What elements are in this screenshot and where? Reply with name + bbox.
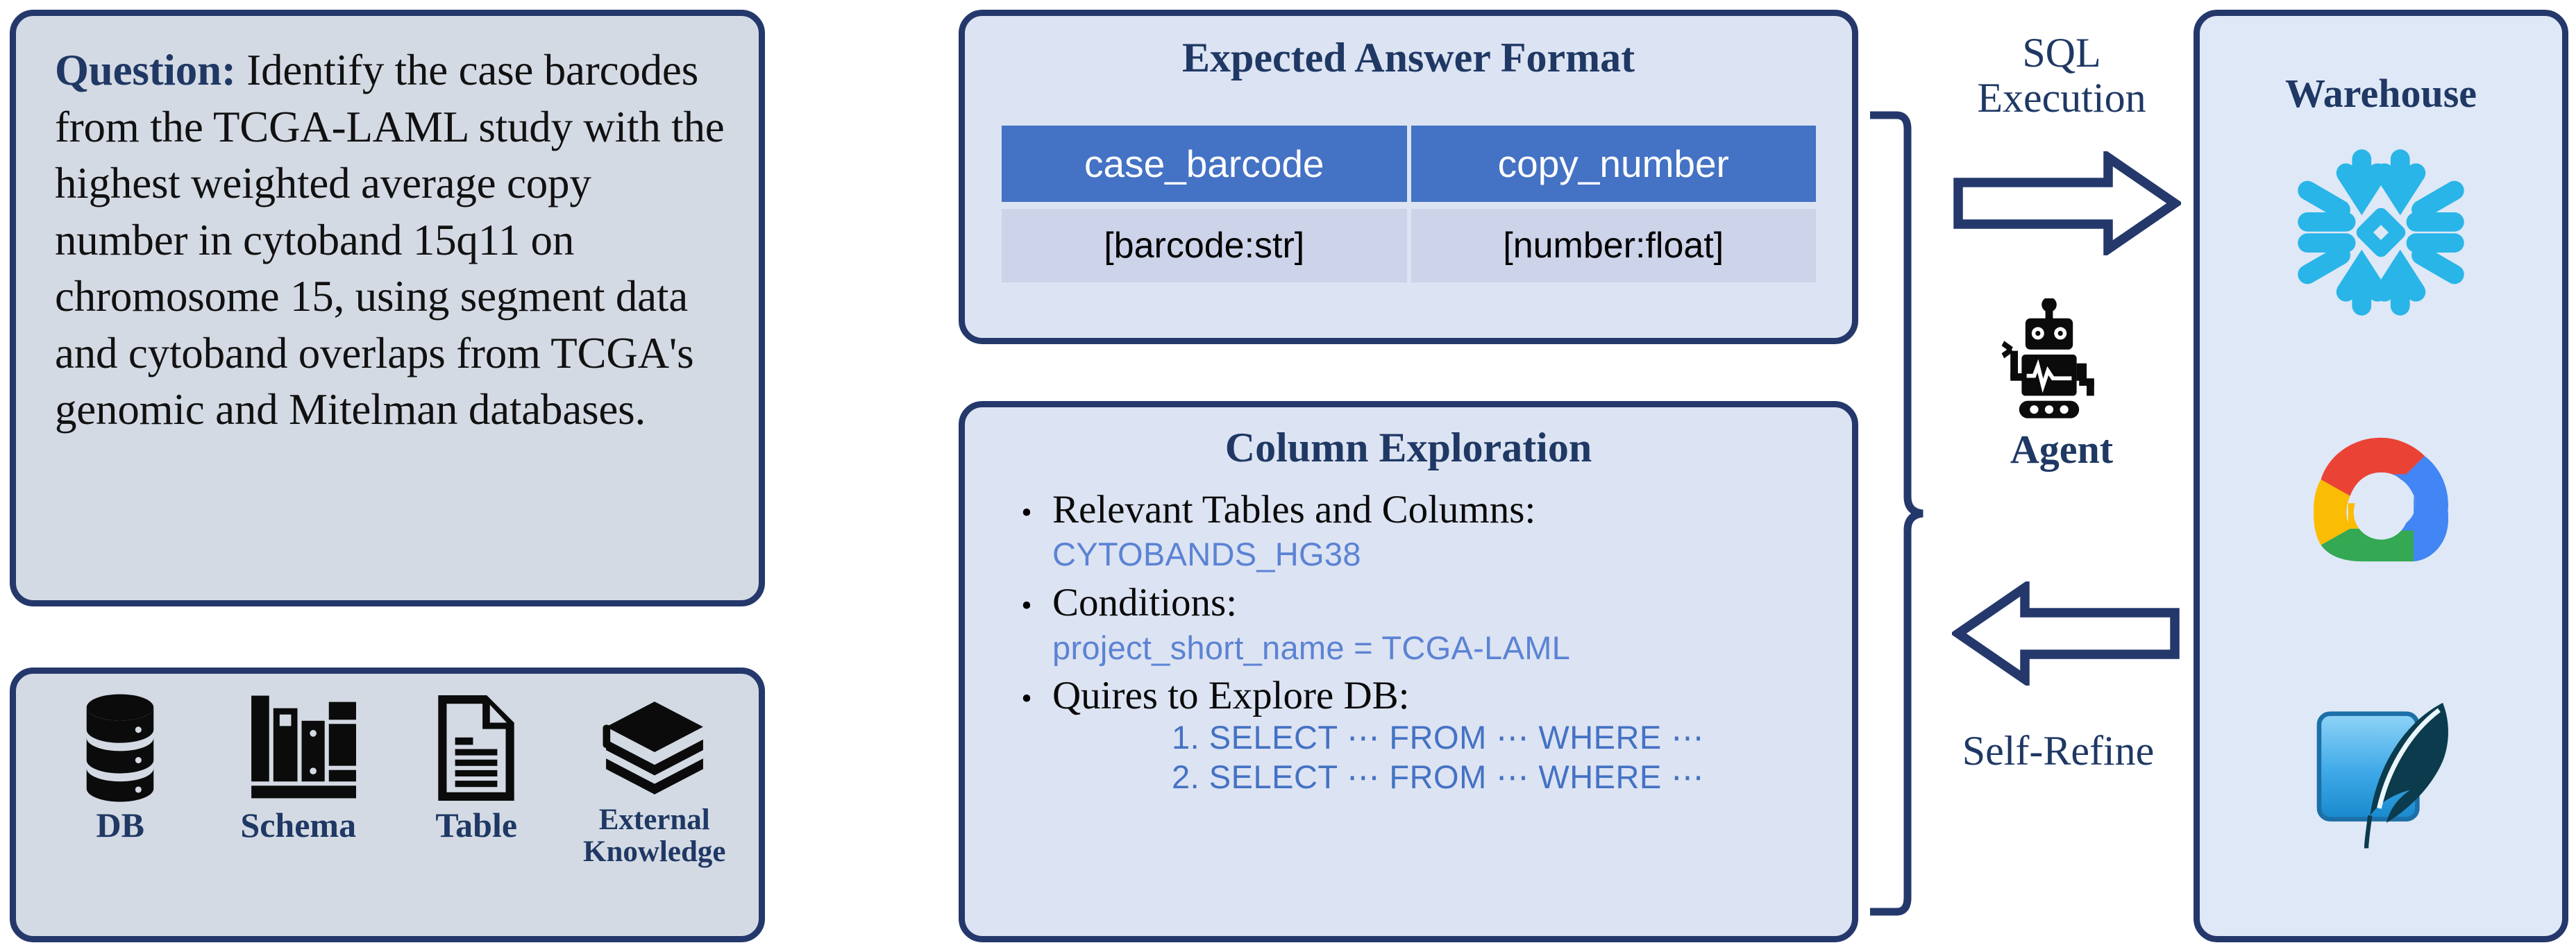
resource-label-db: DB [96, 807, 144, 844]
cell-barcode-type: [barcode:str] [1002, 209, 1407, 282]
column-exploration-body: • Relevant Tables and Columns: CYTOBANDS… [1001, 489, 1835, 797]
column-header-case-barcode: case_barcode [1002, 126, 1407, 202]
column-exploration-title: Column Exploration [965, 424, 1852, 472]
sqlite-logo [2290, 674, 2472, 856]
books-shelf-icon [239, 693, 358, 803]
sql-execution-label: SQL Execution [1916, 31, 2207, 121]
arrow-right-icon [1952, 151, 2181, 255]
document-icon [430, 693, 522, 803]
agent-label: Agent [1916, 426, 2207, 473]
warehouse-panel: Warehouse [2194, 10, 2568, 942]
question-body: Identify the case barcodes from the TCGA… [55, 46, 725, 434]
cell-number-type: [number:float] [1411, 209, 1817, 282]
google-cloud-logo [2290, 409, 2472, 590]
robot-icon [1987, 298, 2112, 423]
resource-label-external-knowledge: External Knowledge [572, 804, 737, 867]
bullet-heading-relevant-tables: Relevant Tables and Columns: [1052, 489, 1535, 531]
bullet-icon: • [1001, 683, 1052, 714]
resource-db[interactable]: DB [37, 693, 203, 844]
resource-external-knowledge[interactable]: External Knowledge [572, 693, 737, 867]
answer-format-table: case_barcode copy_number [barcode:str] [… [997, 119, 1820, 289]
bullet-icon: • [1001, 498, 1052, 528]
diagram-canvas: Question: Identify the case barcodes fro… [0, 0, 2576, 952]
sql-execution-line-1: SQL [1916, 31, 2207, 76]
column-header-copy-number: copy_number [1411, 126, 1817, 202]
query-line-2: 2. SELECT ⋯ FROM ⋯ WHERE ⋯ [1172, 757, 1835, 797]
stacked-books-icon [602, 693, 707, 803]
question-text: Question: Identify the case barcodes fro… [55, 42, 730, 439]
right-curly-brace-icon [1869, 111, 1926, 916]
resources-panel: DB [10, 668, 765, 942]
sql-execution-line-2: Execution [1916, 76, 2207, 121]
snowflake-logo [2293, 145, 2468, 320]
resource-schema[interactable]: Schema [216, 693, 381, 844]
table-row: [barcode:str] [number:float] [1002, 209, 1816, 282]
bullet-conditions: • Conditions: [1001, 582, 1835, 624]
answer-format-title: Expected Answer Format [965, 34, 1852, 82]
database-icon [68, 693, 172, 803]
resources-row: DB [16, 674, 759, 936]
question-panel: Question: Identify the case barcodes fro… [10, 10, 765, 606]
table-header-row: case_barcode copy_number [1002, 126, 1816, 202]
bullet-heading-conditions: Conditions: [1052, 582, 1237, 624]
bullet-relevant-tables: • Relevant Tables and Columns: [1001, 489, 1835, 531]
code-relevant-tables: CYTOBANDS_HG38 [1052, 536, 1835, 572]
arrow-left-icon [1952, 581, 2181, 686]
bullet-icon: • [1001, 590, 1052, 621]
resource-table[interactable]: Table [394, 693, 559, 844]
bullet-heading-queries: Quires to Explore DB: [1052, 675, 1410, 717]
code-conditions: project_short_name = TCGA-LAML [1052, 630, 1835, 666]
column-exploration-panel: Column Exploration • Relevant Tables and… [959, 401, 1858, 942]
resource-label-table: Table [435, 807, 517, 844]
resource-label-schema: Schema [240, 807, 356, 844]
warehouse-title: Warehouse [2200, 70, 2562, 117]
question-label: Question: [55, 46, 236, 94]
self-refine-label: Self-Refine [1905, 727, 2211, 775]
bullet-queries: • Quires to Explore DB: [1001, 675, 1835, 717]
expected-answer-format-panel: Expected Answer Format case_barcode copy… [959, 10, 1858, 344]
query-line-1: 1. SELECT ⋯ FROM ⋯ WHERE ⋯ [1172, 717, 1835, 757]
